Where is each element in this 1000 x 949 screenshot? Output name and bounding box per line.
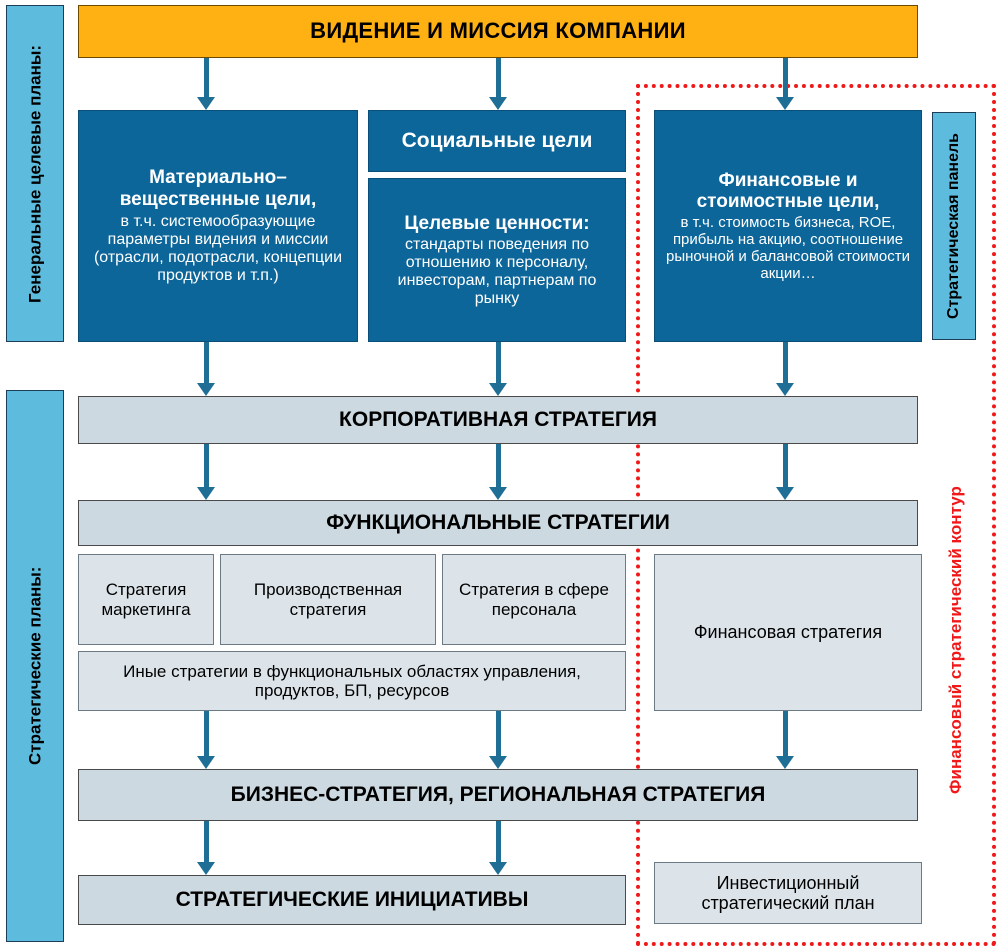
goal-box-target-values[interactable]: Целевые ценности: стандарты поведения по… [368, 178, 626, 342]
arrow-financial-to-corporate [774, 342, 796, 396]
strategy-row-business-regional-label: БИЗНЕС-СТРАТЕГИЯ, РЕГИОНАЛЬНАЯ СТРАТЕГИЯ [231, 783, 766, 807]
sidebar-item-strategic-plans[interactable]: Стратегические планы: [6, 390, 64, 942]
goal-box-financial-body: в т.ч. стоимость бизнеса, ROE, прибыль н… [663, 215, 913, 282]
functional-item-financial-strategy-label: Финансовая стратегия [688, 622, 888, 642]
arrow-business-to-initiatives-left [195, 821, 217, 875]
arrow-vision-to-financial [774, 58, 796, 110]
functional-item-financial-strategy[interactable]: Финансовая стратегия [654, 554, 922, 711]
strategy-diagram: Финансовый стратегический контур Генерал… [0, 0, 1000, 949]
arrow-business-to-initiatives-mid [487, 821, 509, 875]
goal-box-financial-title: Финансовые и стоимостные цели, [663, 170, 913, 213]
arrow-values-to-corporate [487, 342, 509, 396]
functional-item-production-strategy-label: Производственная стратегия [221, 580, 435, 618]
sidebar-label-strategic-panel: Стратегическая панель [939, 133, 969, 319]
functional-item-marketing-strategy-label: Стратегия маркетинга [79, 580, 213, 618]
arrow-vision-to-material [195, 58, 217, 110]
goal-box-material[interactable]: Материально– вещественные цели, в т.ч. с… [78, 110, 358, 342]
investment-strategic-plan-label: Инвестиционный стратегический план [655, 873, 921, 913]
financial-contour-label: Финансовый стратегический контур [946, 360, 972, 920]
arrow-vision-to-social [487, 58, 509, 110]
strategy-row-initiatives-label: СТРАТЕГИЧЕСКИЕ ИНИЦИАТИВЫ [176, 888, 529, 912]
arrow-material-to-corporate [195, 342, 217, 396]
arrow-functional-to-business-right [774, 711, 796, 769]
functional-item-production-strategy[interactable]: Производственная стратегия [220, 554, 436, 645]
sidebar-item-general-target-plans[interactable]: Генеральные целевые планы: [6, 5, 64, 342]
sidebar-label-strategic-plans: Стратегические планы: [19, 567, 50, 765]
goal-box-target-values-body: стандарты поведения по отношению к персо… [375, 236, 619, 308]
functional-item-hr-strategy-label: Стратегия в сфере персонала [443, 580, 625, 618]
sidebar-item-strategic-panel[interactable]: Стратегическая панель [932, 112, 976, 340]
functional-item-hr-strategy[interactable]: Стратегия в сфере персонала [442, 554, 626, 645]
goal-box-social[interactable]: Социальные цели [368, 110, 626, 172]
arrow-corporate-to-functional-left [195, 444, 217, 500]
arrow-corporate-to-functional-right [774, 444, 796, 500]
page-title: ВИДЕНИЕ И МИССИЯ КОМПАНИИ [78, 5, 918, 58]
goal-box-social-title: Социальные цели [402, 129, 593, 153]
strategy-row-functional-label: ФУНКЦИОНАЛЬНЫЕ СТРАТЕГИИ [326, 511, 670, 535]
sidebar-label-general-target-plans: Генеральные целевые планы: [19, 44, 50, 302]
goal-box-material-title: Материально– вещественные цели, [120, 167, 317, 210]
arrow-functional-to-business-mid [487, 711, 509, 769]
goal-box-financial[interactable]: Финансовые и стоимостные цели, в т.ч. ст… [654, 110, 922, 342]
functional-item-other-strategies-label: Иные стратегии в функциональных областях… [79, 662, 625, 700]
goal-box-material-body: в т.ч. системообразующие параметры виден… [87, 213, 349, 285]
page-title-label: ВИДЕНИЕ И МИССИЯ КОМПАНИИ [310, 19, 686, 44]
strategy-row-functional[interactable]: ФУНКЦИОНАЛЬНЫЕ СТРАТЕГИИ [78, 500, 918, 546]
functional-item-other-strategies[interactable]: Иные стратегии в функциональных областях… [78, 651, 626, 711]
strategy-row-corporate-label: КОРПОРАТИВНАЯ СТРАТЕГИЯ [339, 408, 657, 432]
strategy-row-business-regional[interactable]: БИЗНЕС-СТРАТЕГИЯ, РЕГИОНАЛЬНАЯ СТРАТЕГИЯ [78, 769, 918, 821]
goal-box-target-values-title: Целевые ценности: [404, 213, 589, 234]
functional-item-marketing-strategy[interactable]: Стратегия маркетинга [78, 554, 214, 645]
strategy-row-corporate[interactable]: КОРПОРАТИВНАЯ СТРАТЕГИЯ [78, 396, 918, 444]
arrow-functional-to-business-left [195, 711, 217, 769]
strategy-row-initiatives[interactable]: СТРАТЕГИЧЕСКИЕ ИНИЦИАТИВЫ [78, 875, 626, 925]
arrow-corporate-to-functional-mid [487, 444, 509, 500]
investment-strategic-plan[interactable]: Инвестиционный стратегический план [654, 862, 922, 924]
